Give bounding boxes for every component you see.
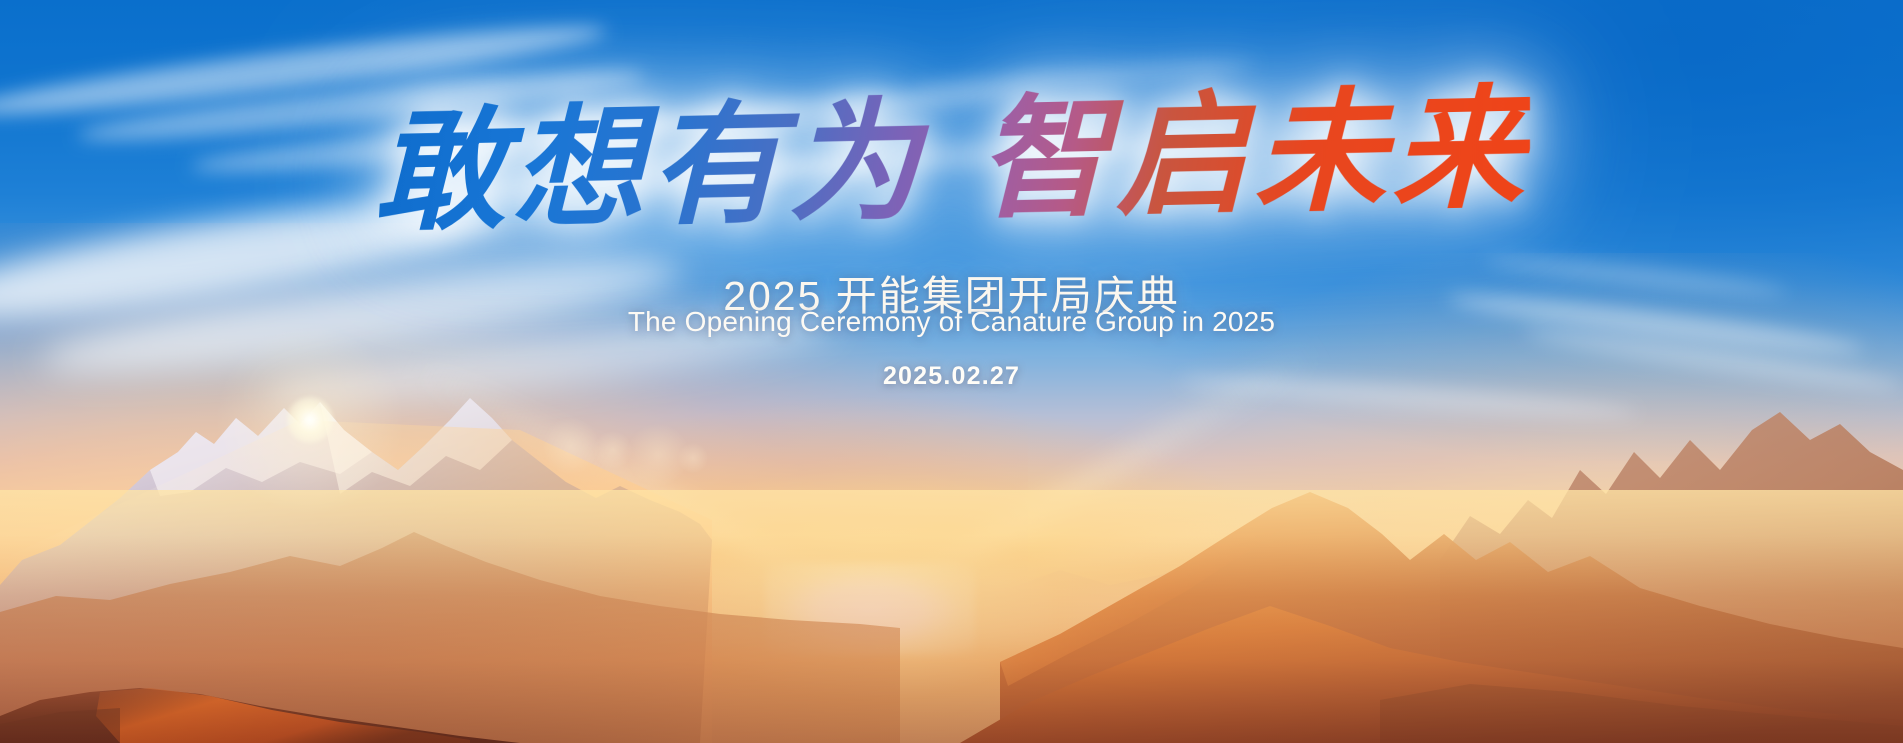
headline-text: 敢想有为 智启未来 [374,80,1530,244]
event-date: 2025.02.27 [0,362,1903,391]
headline-calligraphy: 敢想有为 智启未来 [0,92,1903,232]
subtitle-english: The Opening Ceremony of Canature Group i… [0,306,1903,338]
event-banner: 敢想有为 智启未来 2025 开能集团开局庆典 The Opening Cere… [0,0,1903,743]
